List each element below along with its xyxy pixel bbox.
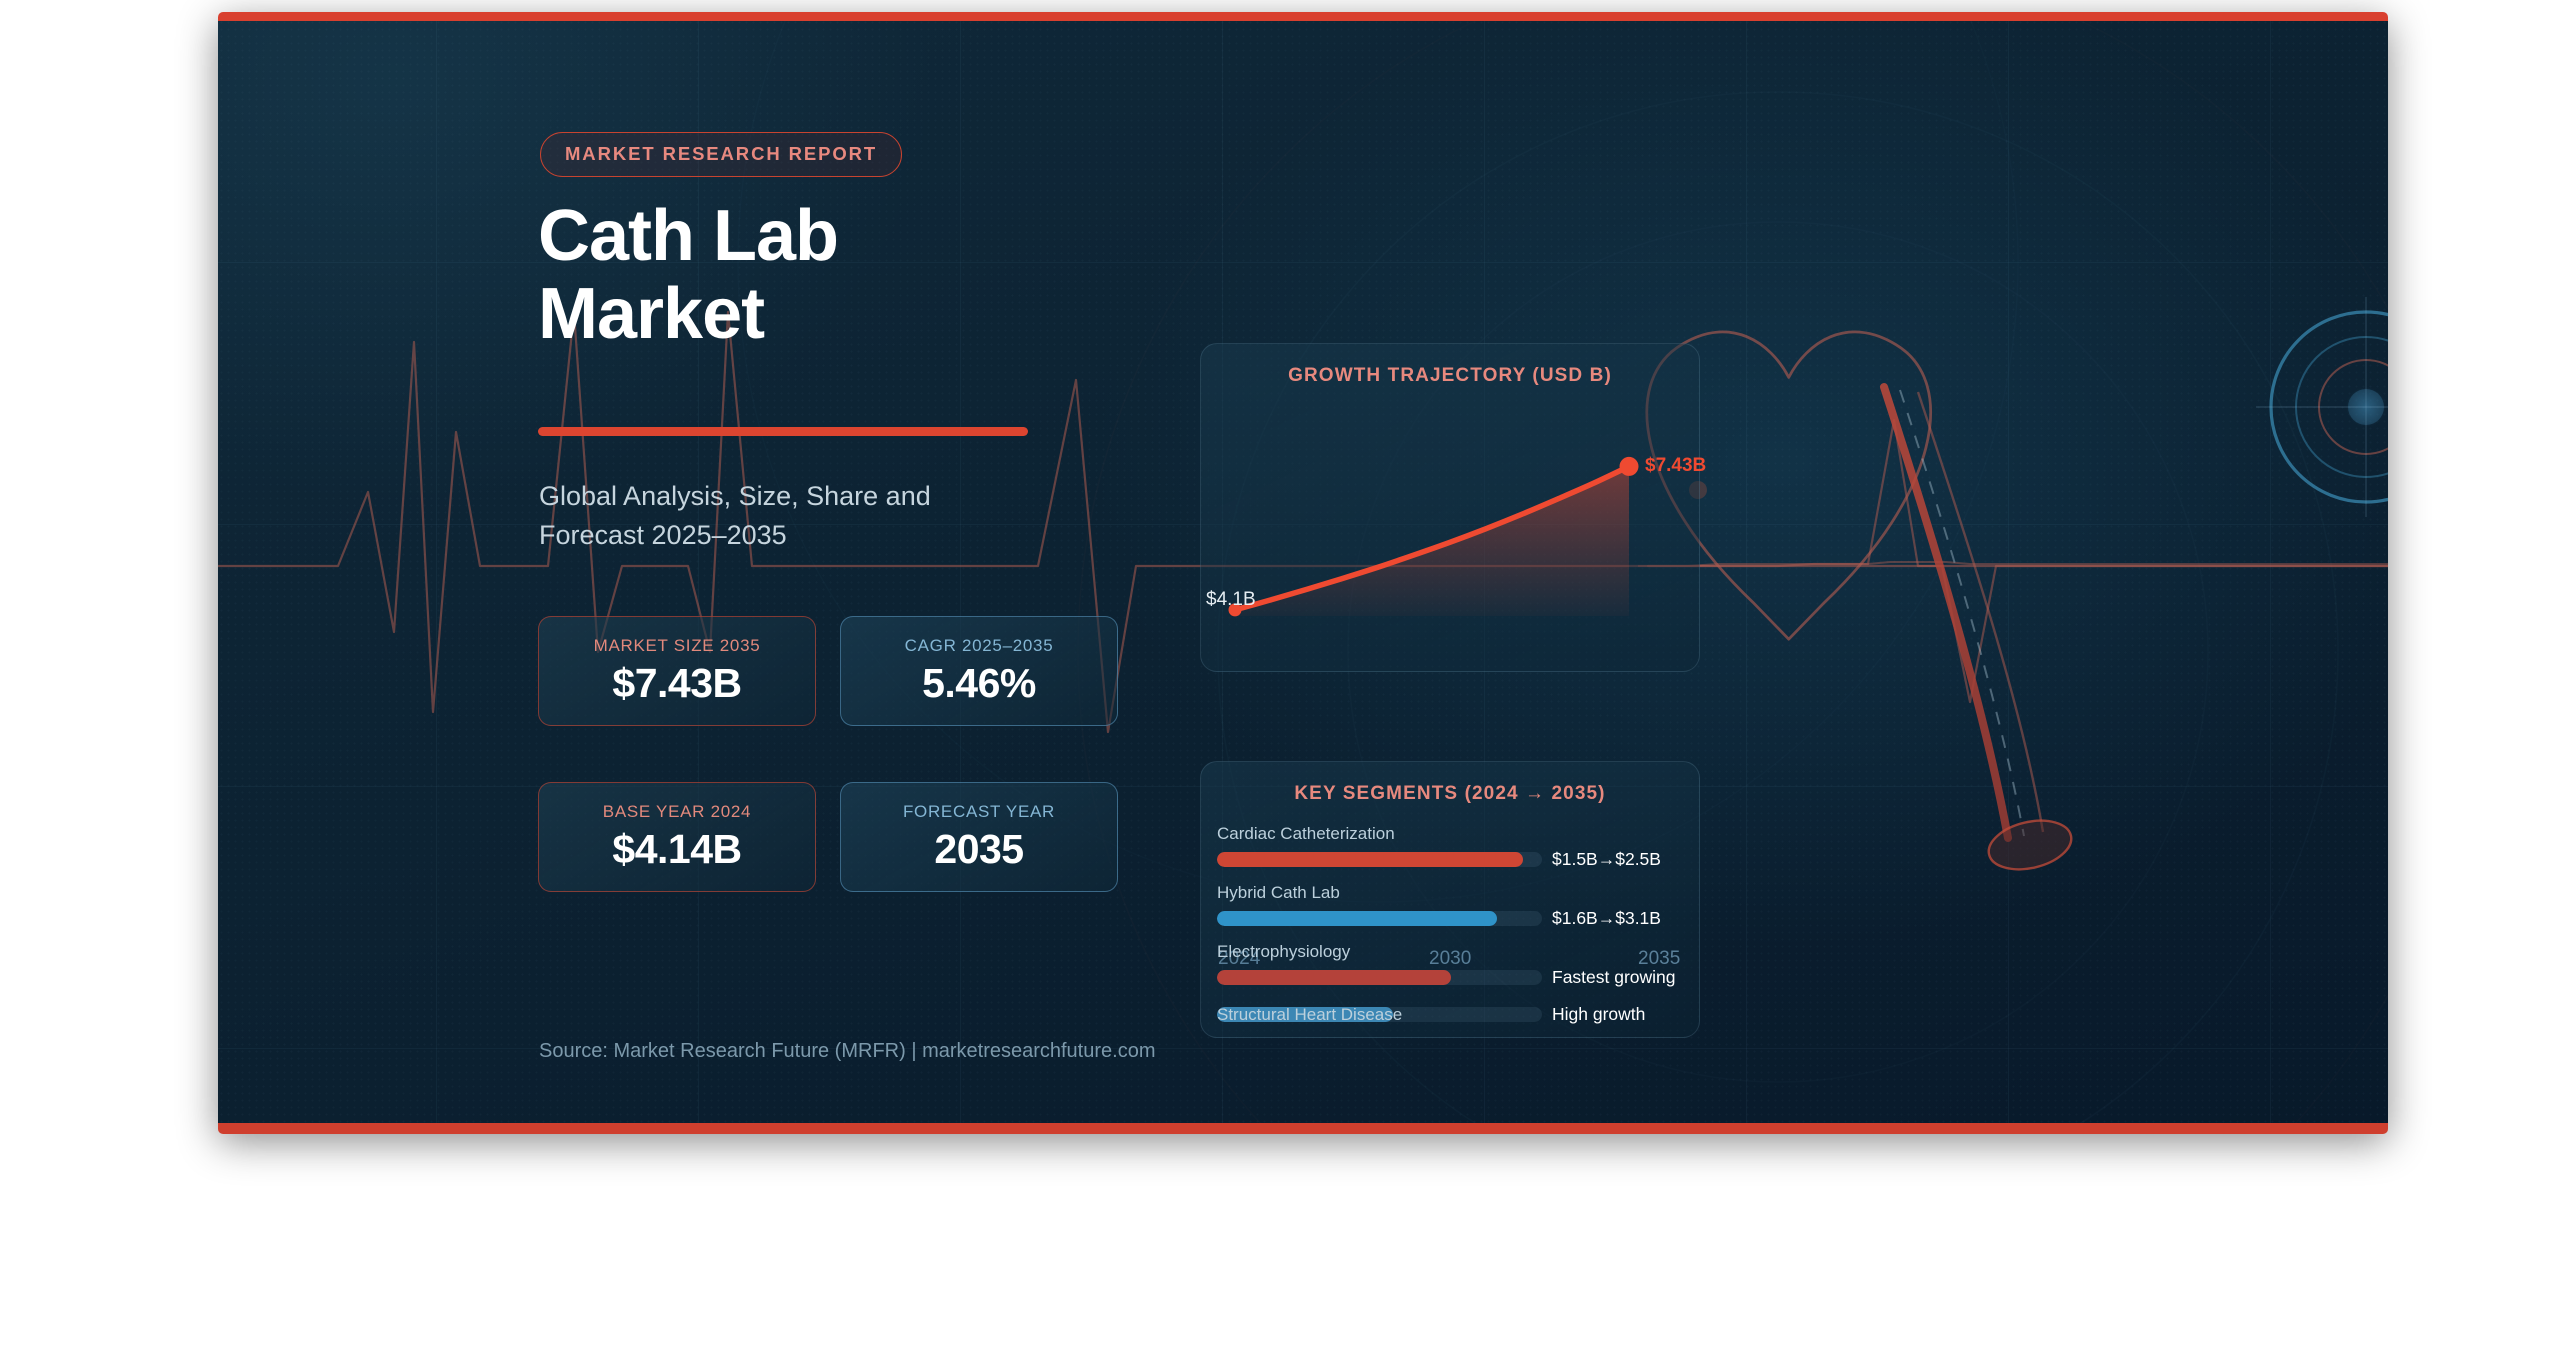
poster-content: MARKET RESEARCH REPORT Cath Lab Market G… (218, 12, 2388, 1132)
stat-card-cagr: CAGR 2025–2035 5.46% (840, 616, 1118, 726)
page-title-line-2: Market (538, 274, 764, 354)
source-attribution: Source: Market Research Future (MRFR) | … (539, 1040, 1155, 1063)
segment-label: Hybrid Cath Lab (1217, 883, 1685, 903)
segment-bar-fill (1217, 911, 1497, 926)
segment-row-cardiac-catheterization: Cardiac Catheterization $1.5B→$2.5B (1217, 824, 1685, 870)
segment-note: $1.5B→$2.5B (1552, 849, 1661, 870)
segment-note: Fastest growing (1552, 967, 1676, 988)
chart-plot-area: $4.1B $7.43B 2024 2030 2035 (1201, 344, 1699, 671)
stat-card-market-size: MARKET SIZE 2035 $7.43B (538, 616, 816, 726)
stat-card-base-year: BASE YEAR 2024 $4.14B (538, 782, 816, 892)
segment-label: Cardiac Catheterization (1217, 824, 1685, 844)
poster-frame: MARKET RESEARCH REPORT Cath Lab Market G… (218, 12, 2388, 1132)
segment-note: High growth (1552, 1004, 1645, 1025)
stat-value: 2035 (934, 826, 1023, 873)
growth-curve-svg (1201, 344, 1701, 673)
segment-bar-track (1217, 852, 1542, 867)
stat-label: BASE YEAR 2024 (603, 802, 751, 822)
segments-panel-title: KEY SEGMENTS (2024 → 2035) (1201, 783, 1699, 805)
segment-row-hybrid-cath-lab: Hybrid Cath Lab $1.6B→$3.1B (1217, 883, 1685, 929)
segment-bar-fill (1217, 970, 1451, 985)
chart-start-value-label: $4.1B (1206, 589, 1256, 611)
chart-end-marker (1620, 457, 1639, 476)
accent-bar-bottom (218, 1123, 2388, 1134)
segment-bar-track (1217, 970, 1542, 985)
growth-trajectory-panel: GROWTH TRAJECTORY (USD B) (1200, 343, 1700, 672)
segment-list: Cardiac Catheterization $1.5B→$2.5B Hybr… (1217, 824, 1685, 1029)
report-type-badge: MARKET RESEARCH REPORT (540, 132, 902, 177)
segment-row-structural-heart-disease: Structural Heart Disease High growth (1217, 1001, 1685, 1029)
segment-bar-fill (1217, 852, 1523, 867)
stat-value: $4.14B (612, 826, 741, 873)
page-subtitle: Global Analysis, Size, Share and Forecas… (539, 477, 1009, 554)
chart-end-value-label: $7.43B (1645, 455, 1706, 477)
segment-note: $1.6B→$3.1B (1552, 908, 1661, 929)
segment-label: Electrophysiology (1217, 942, 1685, 962)
segment-bar-track (1217, 911, 1542, 926)
stat-value: $7.43B (612, 660, 741, 707)
stat-value: 5.46% (922, 660, 1036, 707)
key-segments-panel: KEY SEGMENTS (2024 → 2035) Cardiac Cathe… (1200, 761, 1700, 1038)
stat-label: FORECAST YEAR (903, 802, 1055, 822)
segment-label: Structural Heart Disease (1217, 1005, 1402, 1025)
stat-label: MARKET SIZE 2035 (594, 636, 761, 656)
title-underline-rule (538, 427, 1028, 436)
segment-row-electrophysiology: Electrophysiology Fastest growing (1217, 942, 1685, 988)
page-title: Cath Lab Market (538, 197, 1178, 354)
accent-bar-top (218, 12, 2388, 21)
stat-label: CAGR 2025–2035 (905, 636, 1054, 656)
stat-card-forecast-year: FORECAST YEAR 2035 (840, 782, 1118, 892)
page-title-line-1: Cath Lab (538, 196, 838, 276)
